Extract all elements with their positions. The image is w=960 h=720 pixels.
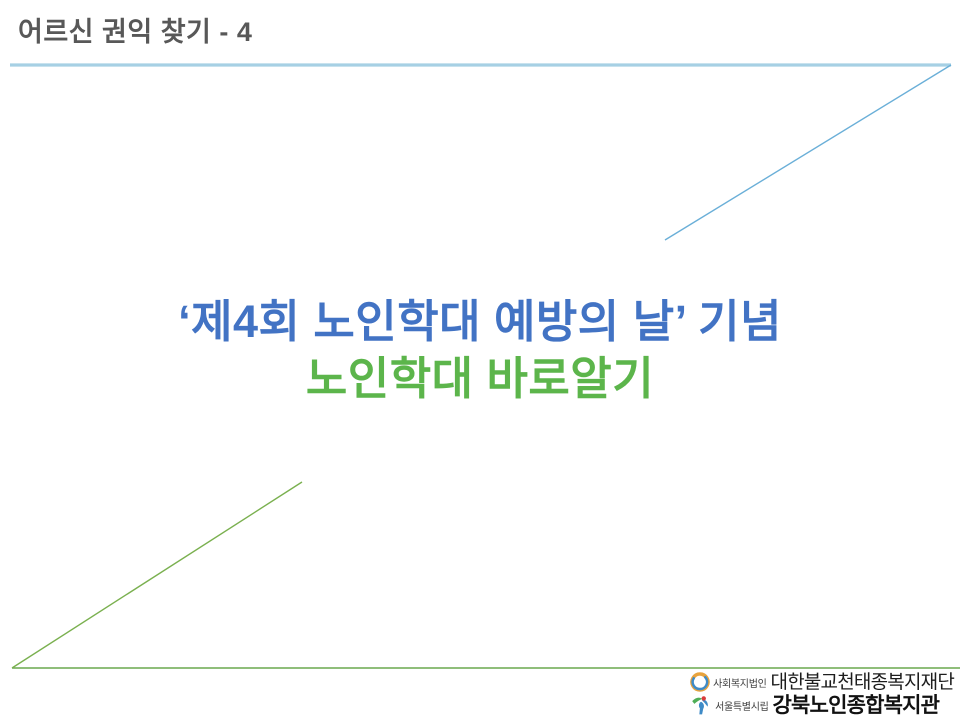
green-diagonal-rule — [12, 482, 302, 668]
main-title-line-1: ‘제4회 노인학대 예방의 날’ 기념 — [0, 295, 960, 350]
slide-header: 어르신 권익 찾기 - 4 — [18, 12, 718, 54]
logo-prefix-foundation: 사회복지법인 — [713, 675, 766, 690]
footer-logo-group: 사회복지법인 대한불교천태종복지재단 서울특별시립 강북노인종합복지관 — [690, 672, 954, 716]
logo-name-welfare-center: 강북노인종합복지관 — [773, 695, 940, 716]
page-title: 어르신 권익 찾기 - 4 — [18, 18, 252, 48]
person-figure-logo-icon — [690, 694, 712, 716]
main-title-block: ‘제4회 노인학대 예방의 날’ 기념 노인학대 바로알기 — [0, 295, 960, 407]
logo-row-foundation: 사회복지법인 대한불교천태종복지재단 — [690, 672, 954, 692]
slide-canvas: 어르신 권익 찾기 - 4 ‘제4회 노인학대 예방의 날’ 기념 노인학대 바… — [0, 0, 960, 720]
logo-row-welfare-center: 서울특별시립 강북노인종합복지관 — [690, 694, 939, 716]
main-title-line-2: 노인학대 바로알기 — [0, 352, 960, 407]
logo-prefix-welfare-center: 서울특별시립 — [715, 698, 768, 713]
blue-diagonal-rule — [665, 65, 951, 240]
logo-name-foundation: 대한불교천태종복지재단 — [771, 673, 954, 692]
circle-ring-logo-icon — [690, 672, 710, 692]
